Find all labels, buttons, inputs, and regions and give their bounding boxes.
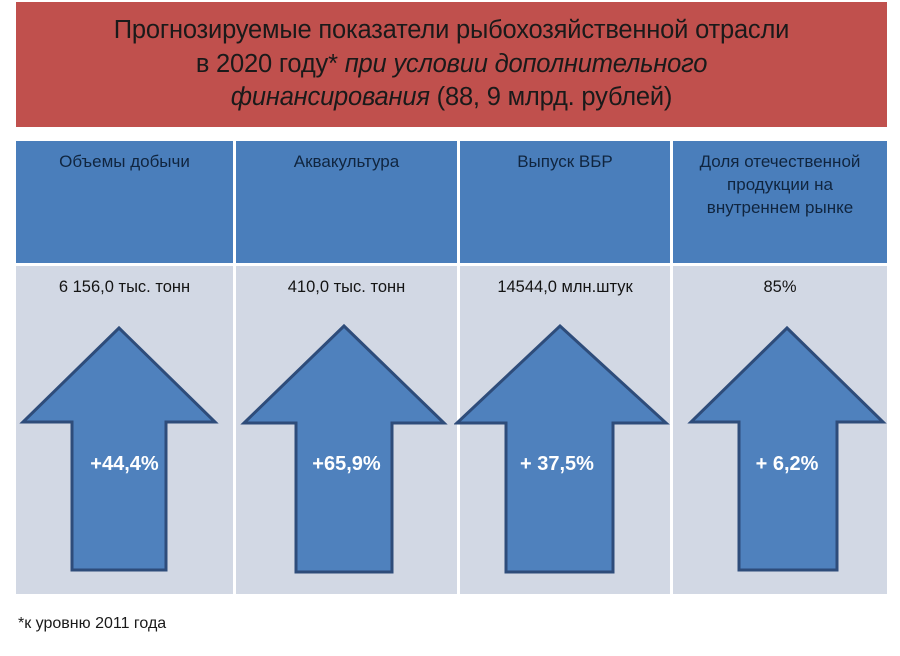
table-value-label: 85% [763, 278, 796, 297]
title-line-3-plain: (88, 9 млрд. рублей) [437, 83, 673, 111]
table-header-label: Объемы добычи [53, 151, 196, 174]
up-arrow-icon [19, 324, 219, 574]
arrow-wrap: + 37,5% [460, 308, 670, 594]
up-arrow-icon [240, 322, 448, 576]
arrow-wrap: +65,9% [236, 308, 457, 594]
table-arrow-cell-vbr-output: + 37,5% [460, 308, 673, 594]
title-line-3-italic: финансирования [231, 83, 430, 111]
table-header-cell-aquaculture: Аквакультура [236, 141, 460, 266]
table-header-cell-domestic-share: Доля отечественной продукции на внутренн… [673, 141, 887, 266]
page-title: Прогнозируемые показатели рыбохозяйствен… [114, 14, 789, 116]
title-line-1: Прогнозируемые показатели рыбохозяйствен… [114, 16, 789, 44]
title-banner: Прогнозируемые показатели рыбохозяйствен… [16, 2, 887, 127]
table-arrow-row: +44,4% +65,9% + 37,5% [16, 308, 887, 594]
table-header-label: Доля отечественной продукции на внутренн… [673, 151, 887, 220]
growth-percent-label: + 37,5% [460, 453, 654, 476]
table-value-cell-vbr-output: 14544,0 млн.штук [460, 266, 673, 308]
arrow-wrap: + 6,2% [673, 308, 887, 594]
table-header-cell-catch-volume: Объемы добычи [16, 141, 236, 266]
table-header-label: Выпуск ВБР [511, 151, 619, 174]
kpi-table: Объемы добычи Аквакультура Выпуск ВБР До… [16, 141, 887, 594]
arrow-wrap: +44,4% [16, 308, 233, 594]
up-arrow-icon [687, 324, 887, 574]
table-value-cell-catch-volume: 6 156,0 тыс. тонн [16, 266, 236, 308]
table-header-cell-vbr-output: Выпуск ВБР [460, 141, 673, 266]
title-line-2-italic: при условии дополнительного [345, 50, 707, 78]
table-arrow-cell-domestic-share: + 6,2% [673, 308, 887, 594]
table-arrow-cell-catch-volume: +44,4% [16, 308, 236, 594]
table-value-label: 410,0 тыс. тонн [288, 278, 405, 297]
up-arrow-icon [454, 322, 672, 576]
table-arrow-cell-aquaculture: +65,9% [236, 308, 460, 594]
growth-percent-label: + 6,2% [687, 453, 887, 476]
footnote: *к уровню 2011 года [18, 615, 166, 633]
table-value-cell-domestic-share: 85% [673, 266, 887, 308]
table-header-row: Объемы добычи Аквакультура Выпуск ВБР До… [16, 141, 887, 266]
title-line-2-plain: в 2020 году* [196, 50, 338, 78]
table-value-cell-aquaculture: 410,0 тыс. тонн [236, 266, 460, 308]
table-value-row: 6 156,0 тыс. тонн 410,0 тыс. тонн 14544,… [16, 266, 887, 308]
table-value-label: 6 156,0 тыс. тонн [59, 278, 190, 297]
growth-percent-label: +65,9% [236, 453, 457, 476]
growth-percent-label: +44,4% [16, 453, 233, 476]
table-value-label: 14544,0 млн.штук [497, 278, 632, 297]
table-header-label: Аквакультура [288, 151, 405, 174]
